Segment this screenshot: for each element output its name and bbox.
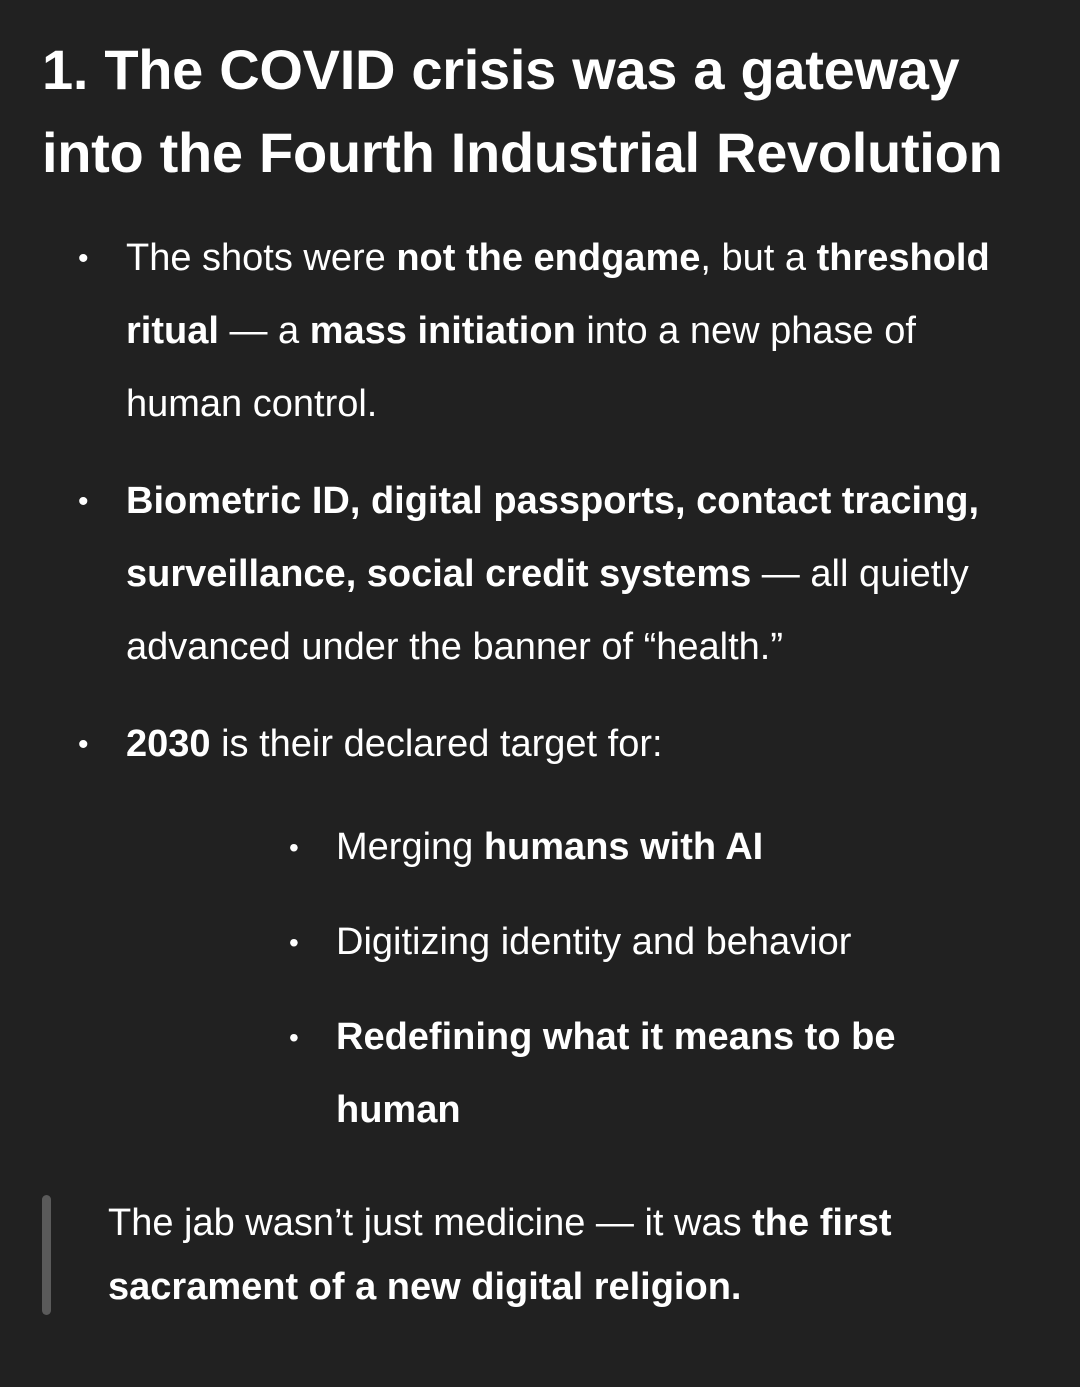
bullet-marker-icon: • — [78, 222, 89, 295]
list-item: •Biometric ID, digital passports, contac… — [0, 465, 1080, 684]
nested-list-item-text: Merging humans with AI — [336, 826, 763, 868]
nested-list-item: •Digitizing identity and behavior — [126, 906, 1020, 979]
main-bullet-list: •The shots were not the endgame, but a t… — [0, 222, 1080, 1147]
text-run: Digitizing identity and behavior — [336, 921, 851, 963]
text-run: , but a — [700, 237, 816, 279]
bullet-marker-icon: • — [289, 1001, 299, 1074]
list-item: •2030 is their declared target for:•Merg… — [0, 708, 1080, 1147]
text-run: is their declared target for: — [211, 723, 663, 765]
nested-list-item: •Redefining what it means to be human — [126, 1001, 1020, 1147]
text-run: The jab wasn’t just medicine — it was — [108, 1202, 752, 1244]
bullet-marker-icon: • — [78, 465, 89, 538]
nested-bullet-list: •Merging humans with AI•Digitizing ident… — [126, 811, 1020, 1147]
list-item-text: 2030 is their declared target for: — [126, 723, 663, 765]
article-page: 1. The COVID crisis was a gateway into t… — [0, 0, 1080, 1387]
list-item: •The shots were not the endgame, but a t… — [0, 222, 1080, 441]
bullet-marker-icon: • — [289, 906, 299, 979]
list-item-text: The shots were not the endgame, but a th… — [126, 237, 990, 425]
nested-list-item-text: Digitizing identity and behavior — [336, 921, 851, 963]
nested-list-item: •Merging humans with AI — [126, 811, 1020, 884]
text-run-bold: Redefining what it means to be human — [336, 1016, 896, 1131]
page-title: 1. The COVID crisis was a gateway into t… — [0, 0, 1080, 194]
bullet-marker-icon: • — [289, 811, 299, 884]
blockquote-bar-icon — [42, 1195, 51, 1315]
nested-list-item-text: Redefining what it means to be human — [336, 1016, 896, 1131]
text-run-bold: not the endgame — [396, 237, 700, 279]
bullet-marker-icon: • — [78, 708, 89, 781]
text-run-bold: humans with AI — [484, 826, 763, 868]
text-run-bold: mass initiation — [310, 310, 576, 352]
text-run: The shots were — [126, 237, 396, 279]
list-item-text: Biometric ID, digital passports, contact… — [126, 480, 979, 668]
text-run: — a — [219, 310, 310, 352]
blockquote: The jab wasn’t just medicine — it was th… — [42, 1191, 1020, 1319]
blockquote-text: The jab wasn’t just medicine — it was th… — [108, 1202, 892, 1308]
text-run: Merging — [336, 826, 484, 868]
text-run-bold: 2030 — [126, 723, 211, 765]
